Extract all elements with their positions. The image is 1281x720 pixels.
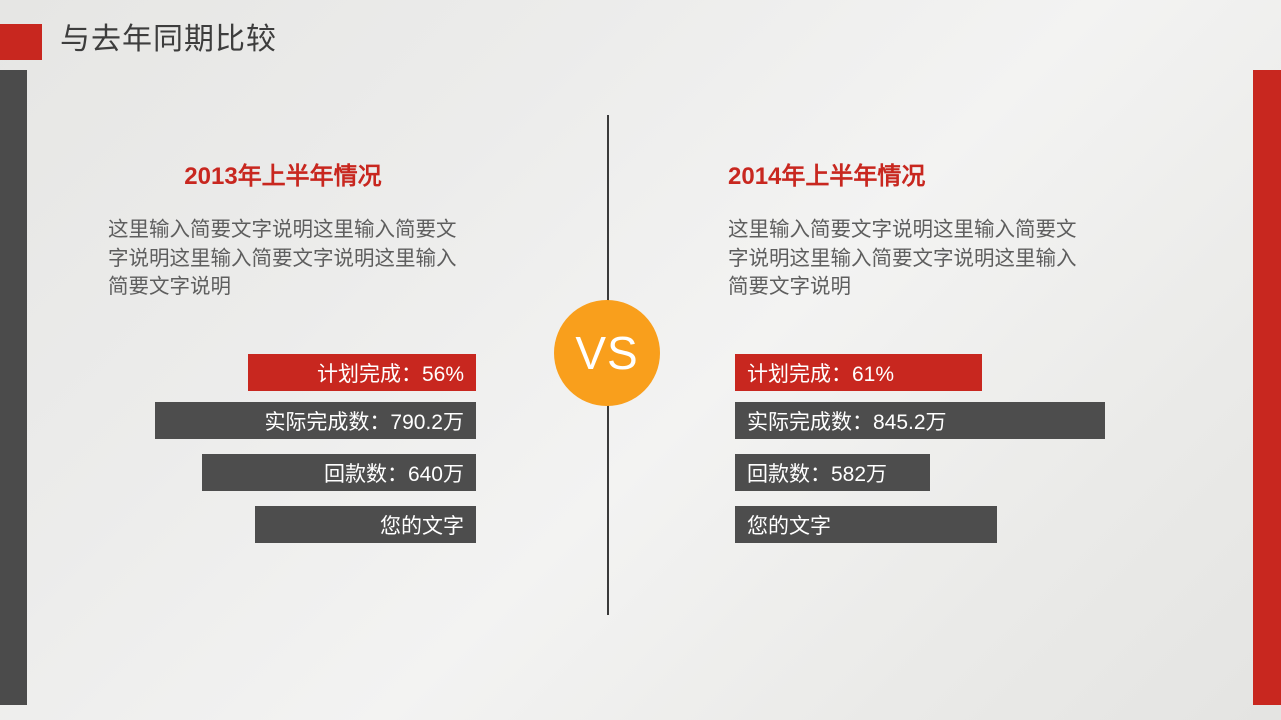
right-metric-bars: 计划完成：61% 实际完成数：845.2万 回款数：582万 您的文字	[735, 354, 1135, 543]
right-bar-payment-received-label: 回款数：582万	[747, 458, 887, 488]
left-bar-actual-completion-label: 实际完成数：790.2万	[264, 406, 464, 436]
right-column-heading: 2014年上半年情况	[728, 160, 1096, 194]
page-title: 与去年同期比较	[60, 18, 277, 62]
right-bar-actual-completion[interactable]: 实际完成数：845.2万	[735, 402, 1105, 439]
right-side-rail	[1253, 70, 1281, 705]
right-bar-payment-received[interactable]: 回款数：582万	[735, 454, 930, 491]
title-accent-block	[0, 24, 42, 60]
right-column-body: 这里输入简要文字说明这里输入简要文字说明这里输入简要文字说明这里输入简要文字说明	[728, 216, 1096, 302]
left-bar-custom-text[interactable]: 您的文字	[255, 506, 476, 543]
right-bar-custom-text-label: 您的文字	[747, 510, 831, 540]
left-bar-actual-completion[interactable]: 实际完成数：790.2万	[155, 402, 476, 439]
right-column: 2014年上半年情况 这里输入简要文字说明这里输入简要文字说明这里输入简要文字说…	[728, 160, 1096, 302]
left-bar-custom-text-label: 您的文字	[380, 510, 464, 540]
left-column-body: 这里输入简要文字说明这里输入简要文字说明这里输入简要文字说明这里输入简要文字说明	[108, 216, 476, 302]
vs-badge: VS	[554, 300, 660, 406]
left-metric-bars: 计划完成：56% 实际完成数：790.2万 回款数：640万 您的文字	[0, 354, 476, 543]
right-bar-actual-completion-label: 实际完成数：845.2万	[747, 406, 947, 436]
right-bar-plan-completion[interactable]: 计划完成：61%	[735, 354, 982, 391]
left-bar-plan-completion[interactable]: 计划完成：56%	[248, 354, 476, 391]
left-bar-payment-received[interactable]: 回款数：640万	[202, 454, 476, 491]
right-bar-custom-text[interactable]: 您的文字	[735, 506, 997, 543]
right-bar-plan-completion-label: 计划完成：61%	[747, 358, 894, 388]
left-column: 2013年上半年情况 这里输入简要文字说明这里输入简要文字说明这里输入简要文字说…	[108, 160, 476, 302]
left-column-heading: 2013年上半年情况	[108, 160, 476, 194]
slide-canvas: 与去年同期比较 VS 2013年上半年情况 这里输入简要文字说明这里输入简要文字…	[0, 0, 1281, 720]
left-bar-payment-received-label: 回款数：640万	[324, 458, 464, 488]
vs-badge-label: VS	[575, 330, 638, 376]
left-bar-plan-completion-label: 计划完成：56%	[317, 358, 464, 388]
